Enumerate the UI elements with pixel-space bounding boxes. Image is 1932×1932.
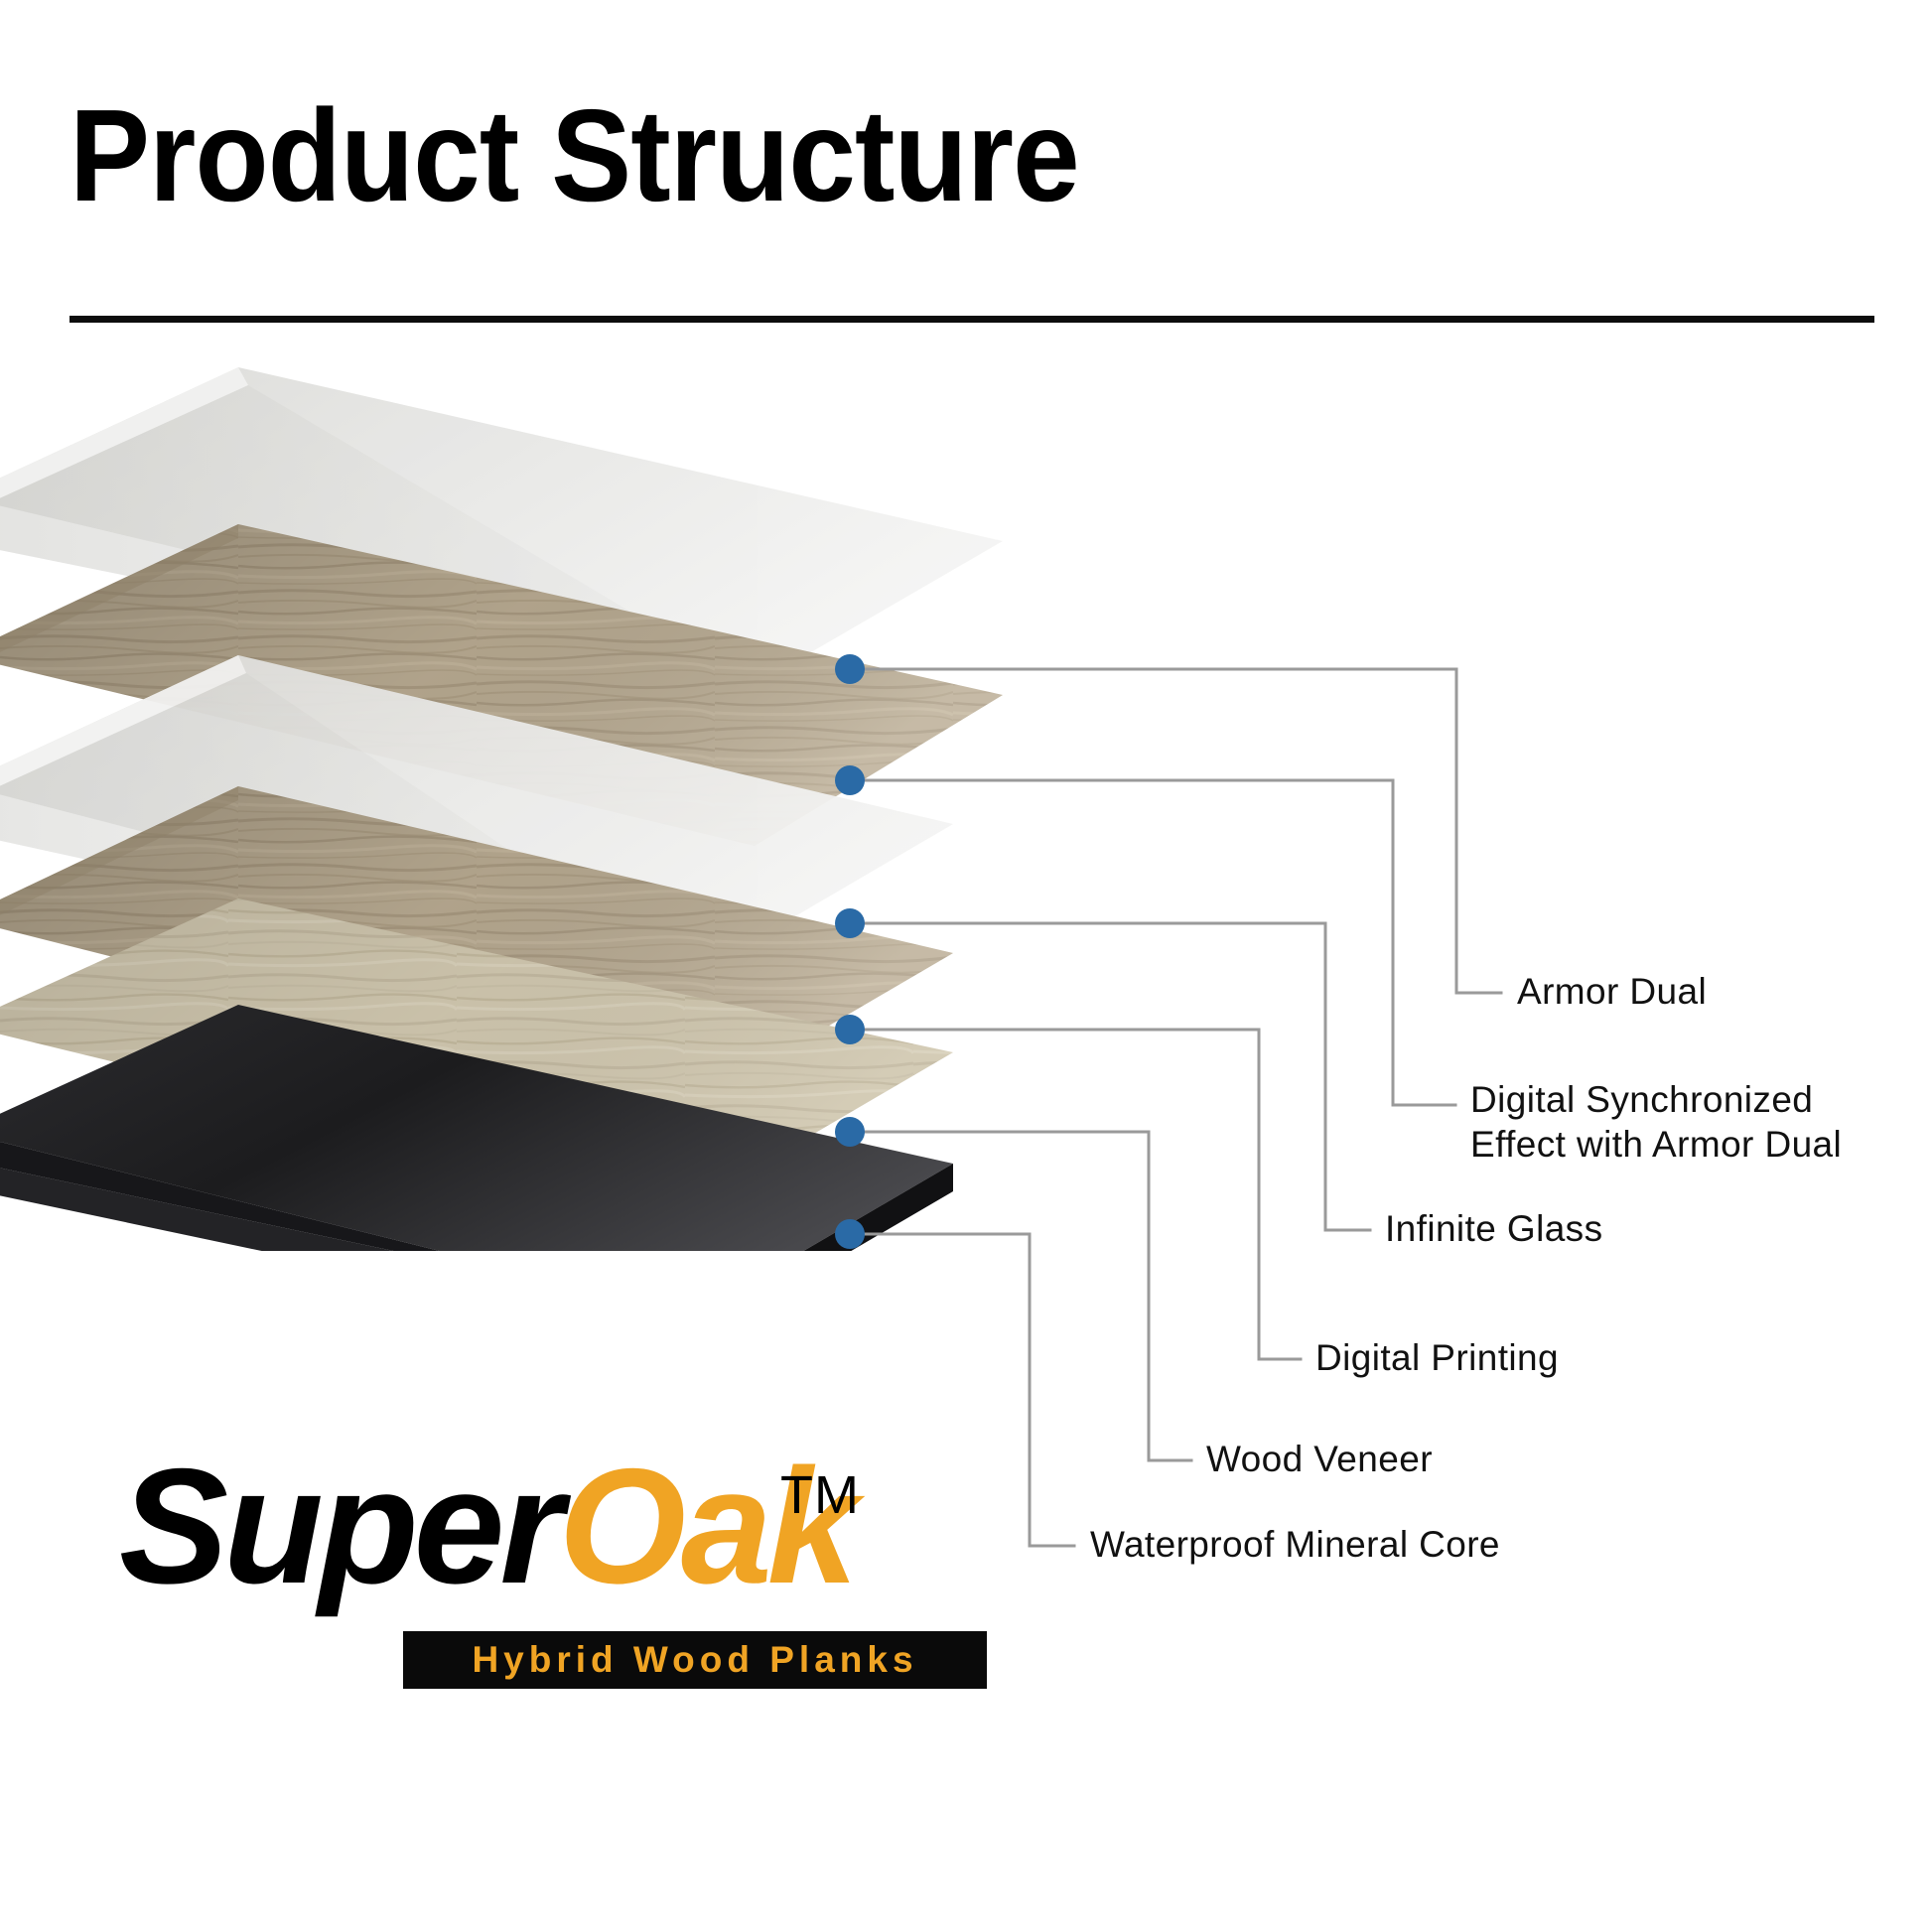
callout-label-digital-synchronized: Digital Synchronized Effect with Armor D… [1470,1077,1842,1167]
layer-stack-illustration [0,357,1241,1251]
callout-label-digital-printing: Digital Printing [1315,1335,1559,1380]
callout-label-armor-dual: Armor Dual [1517,969,1707,1014]
product-structure-page: Product Structure [0,0,1932,1932]
callout-label-wood-veneer: Wood Veneer [1206,1437,1433,1481]
title-divider [69,316,1874,323]
callout-label-waterproof-mineral-core: Waterproof Mineral Core [1090,1522,1500,1567]
superoak-logo: SuperOak TM Hybrid Wood Planks [119,1445,1072,1708]
logo-tagline-bar: Hybrid Wood Planks [403,1631,987,1689]
callout-label-infinite-glass: Infinite Glass [1385,1206,1602,1251]
page-title: Product Structure [69,87,1079,225]
trademark-symbol: TM [780,1464,860,1526]
logo-word-super: Super [119,1435,559,1617]
logo-wordmark: SuperOak [119,1445,853,1608]
logo-tagline-text: Hybrid Wood Planks [472,1639,917,1681]
logo-word-oak: Oak [559,1435,854,1617]
